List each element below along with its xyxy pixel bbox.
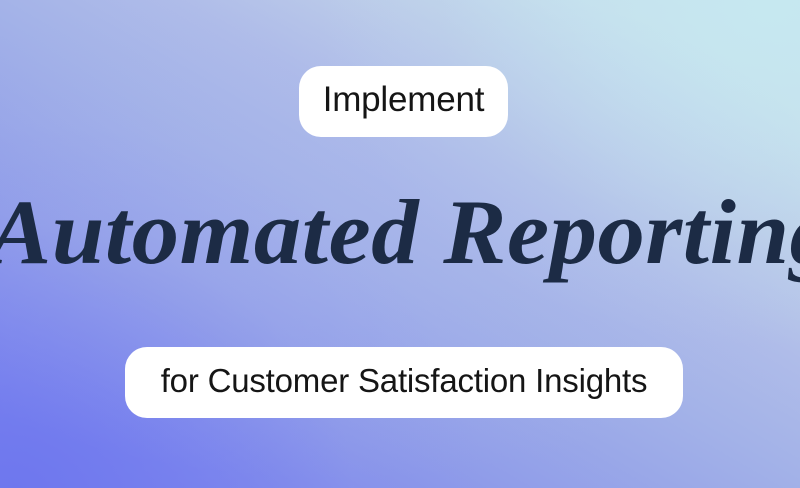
eyebrow-pill-label: Implement bbox=[323, 80, 485, 120]
banner-content: Implement Automated Reporting for Custom… bbox=[0, 0, 800, 488]
headline: Automated Reporting bbox=[0, 186, 800, 278]
subline-pill: for Customer Satisfaction Insights bbox=[125, 347, 683, 418]
promo-banner: Implement Automated Reporting for Custom… bbox=[0, 0, 800, 488]
subline-pill-label: for Customer Satisfaction Insights bbox=[161, 362, 648, 400]
eyebrow-pill: Implement bbox=[299, 66, 508, 137]
